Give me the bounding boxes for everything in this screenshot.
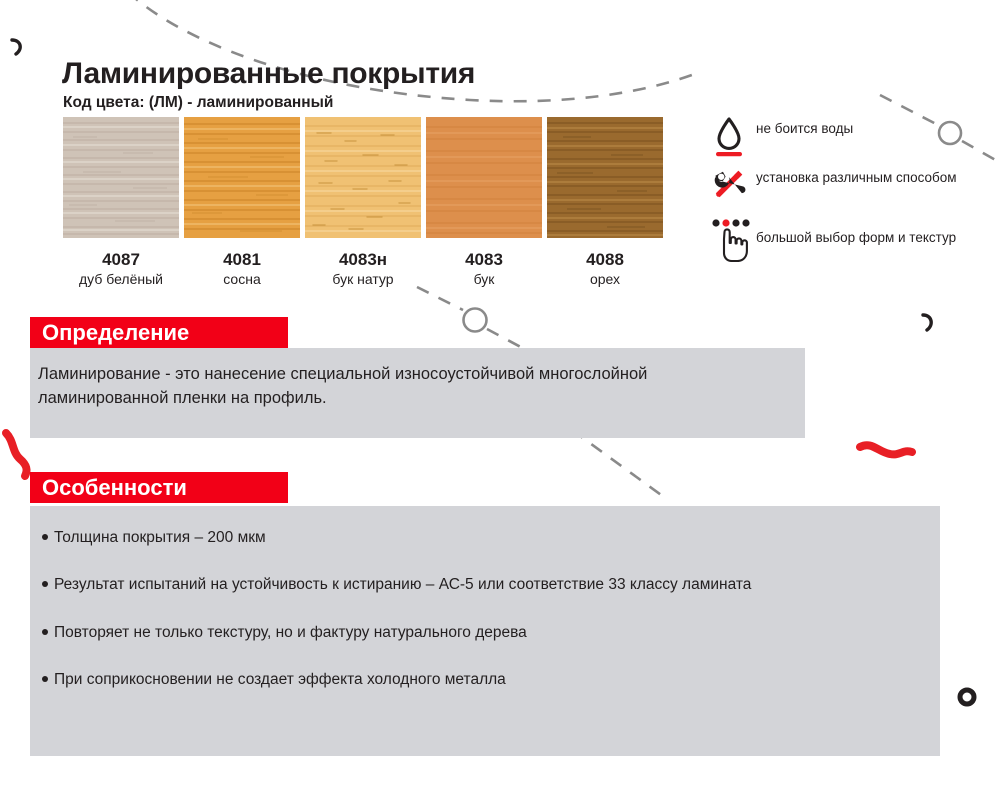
swatch-code: 4087 — [102, 251, 140, 269]
water-drop-icon — [710, 114, 756, 158]
decor-circle-middle — [464, 309, 487, 332]
wood-swatch-pine[interactable] — [184, 117, 300, 238]
feature-item-water: не боится воды — [710, 114, 965, 158]
swatch-code: 4081 — [223, 251, 261, 269]
feature-label: большой выбор форм и текстур — [756, 218, 956, 245]
bullet-text: Повторяет не только текстуру, но и факту… — [54, 624, 527, 641]
swatch-code: 4083н — [339, 251, 387, 269]
swatch-name: дуб белёный — [79, 272, 163, 287]
color-swatch-row: 4087 дуб белёный — [63, 117, 663, 287]
swatch-item[interactable]: 4083н бук натур — [305, 117, 421, 287]
list-item: При соприкосновении не создает эффекта х… — [42, 668, 932, 691]
wood-swatch-oak-white[interactable] — [63, 117, 179, 238]
decor-ring-bottom-right — [960, 690, 974, 704]
pointing-hand-icon — [710, 218, 756, 262]
swatch-name: бук натур — [332, 272, 393, 287]
swatch-item[interactable]: 4087 дуб белёный — [63, 117, 179, 287]
bullet-dot — [42, 581, 48, 587]
wrench-screwdriver-icon — [710, 166, 756, 210]
swatch-item[interactable]: 4083 бук — [426, 117, 542, 287]
decor-squiggle-right — [860, 445, 912, 454]
bullet-text: Толщина покрытия – 200 мкм — [54, 529, 266, 546]
bullet-dot — [42, 629, 48, 635]
swatch-code: 4088 — [586, 251, 624, 269]
bullet-dot — [42, 676, 48, 682]
wood-swatch-beech[interactable] — [426, 117, 542, 238]
bullet-text: Результат испытаний на устойчивость к ис… — [54, 576, 751, 593]
feature-label: не боится воды — [756, 114, 853, 136]
swatch-name: сосна — [223, 272, 260, 287]
decor-comma-right — [923, 315, 931, 330]
peculiarities-bullet-list: Толщина покрытия – 200 мкм Результат исп… — [42, 520, 932, 715]
swatch-code: 4083 — [465, 251, 503, 269]
dashed-curve-lower — [572, 430, 668, 500]
decor-squiggle-left — [6, 433, 27, 476]
swatch-item[interactable]: 4088 орех — [547, 117, 663, 287]
feature-list: не боится воды у — [710, 114, 965, 270]
bullet-dot — [42, 534, 48, 540]
wood-swatch-walnut[interactable] — [547, 117, 663, 238]
swatch-name: бук — [474, 272, 495, 287]
bullet-text: При соприкосновении не создает эффекта х… — [54, 671, 506, 688]
page-title: Ламинированные покрытия — [62, 57, 475, 91]
feature-item-variety: большой выбор форм и текстур — [710, 218, 965, 262]
page-subtitle: Код цвета: (ЛМ) - ламинированный — [63, 94, 333, 112]
list-item: Результат испытаний на устойчивость к ис… — [42, 573, 922, 596]
decor-comma-top-left — [12, 40, 20, 54]
infographic-page: Ламинированные покрытия Код цвета: (ЛМ) … — [0, 0, 1000, 800]
swatch-name: орех — [590, 272, 620, 287]
swatch-item[interactable]: 4081 сосна — [184, 117, 300, 287]
dashed-curve-right-tail — [962, 141, 1000, 166]
dashed-curve-middle — [417, 287, 463, 310]
list-item: Повторяет не только текстуру, но и факту… — [42, 621, 932, 644]
wood-swatch-beech-natural[interactable] — [305, 117, 421, 238]
feature-item-install: установка различным способом — [710, 166, 965, 210]
definition-header: Определение — [30, 317, 288, 348]
peculiarities-header: Особенности — [30, 472, 288, 503]
list-item: Толщина покрытия – 200 мкм — [42, 526, 932, 549]
feature-label: установка различным способом — [756, 166, 957, 185]
definition-text: Ламинирование - это нанесение специально… — [38, 363, 758, 411]
